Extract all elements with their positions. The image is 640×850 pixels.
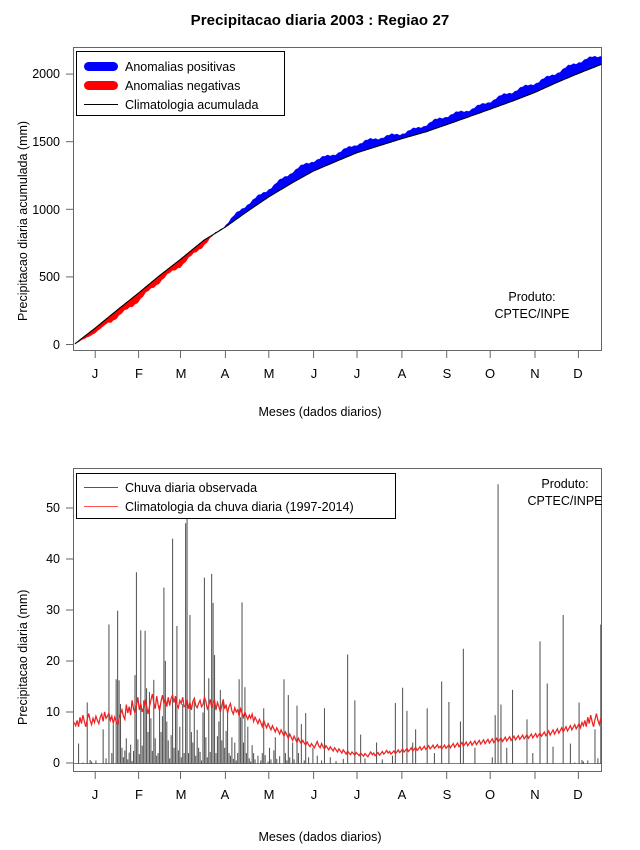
x-tick-label: A: [387, 787, 417, 802]
x-tick-label: A: [210, 366, 240, 381]
produto-line-1: Produto:: [472, 289, 592, 306]
legend-swatch-negative-icon: [77, 81, 125, 90]
legend-swatch-climatology-icon: [77, 104, 125, 105]
produto-line-1: Produto:: [500, 476, 630, 493]
x-tick-label: M: [166, 787, 196, 802]
x-tick-label: J: [80, 366, 110, 381]
legend-item-chuva-observada: Chuva diaria observada: [77, 478, 395, 497]
x-axis-ticks: [95, 351, 578, 358]
y-tick-label: 40: [14, 552, 60, 566]
y-tick-label: 50: [14, 501, 60, 515]
x-tick-label: S: [432, 787, 462, 802]
x-tick-label: O: [475, 366, 505, 381]
produto-line-2: CPTEC/INPE: [472, 306, 592, 323]
x-tick-label: F: [124, 366, 154, 381]
y-axis-ticks: [66, 508, 73, 763]
legend: Chuva diaria observada Climatologia da c…: [76, 473, 396, 519]
legend-label: Anomalias positivas: [125, 60, 235, 74]
x-tick-label: D: [563, 787, 593, 802]
x-tick-label: F: [124, 787, 154, 802]
x-tick-label: A: [210, 787, 240, 802]
x-tick-label: J: [342, 366, 372, 381]
y-tick-label: 2000: [14, 67, 60, 81]
x-tick-label: J: [299, 366, 329, 381]
y-axis-label: Precipitacao diaria acumulada (mm): [16, 121, 30, 321]
legend-item-climatologia-acumulada: Climatologia acumulada: [77, 95, 284, 114]
x-tick-label: M: [166, 366, 196, 381]
x-tick-label: A: [387, 366, 417, 381]
legend-swatch-positive-icon: [77, 62, 125, 71]
legend-item-anomalias-positivas: Anomalias positivas: [77, 57, 284, 76]
legend-label: Anomalias negativas: [125, 79, 240, 93]
produto-annotation: Produto: CPTEC/INPE: [500, 476, 630, 510]
legend-label: Chuva diaria observada: [125, 481, 257, 495]
x-tick-label: J: [299, 787, 329, 802]
daily-series: [74, 484, 602, 763]
produto-line-2: CPTEC/INPE: [500, 493, 630, 510]
x-tick-label: O: [475, 787, 505, 802]
x-tick-label: J: [80, 787, 110, 802]
x-tick-label: M: [254, 366, 284, 381]
x-axis-label: Meses (dados diarios): [0, 830, 640, 844]
legend-swatch-climatology-icon: [77, 506, 125, 507]
legend: Anomalias positivas Anomalias negativas …: [76, 51, 285, 116]
x-axis-label: Meses (dados diarios): [0, 405, 640, 419]
figure-accumulated-precipitation: Precipitacao diaria 2003 : Regiao 27: [0, 0, 640, 430]
legend-label: Climatologia acumulada: [125, 98, 258, 112]
legend-label: Climatologia da chuva diaria (1997-2014): [125, 500, 354, 514]
y-tick-label: 0: [14, 756, 60, 770]
x-tick-label: M: [254, 787, 284, 802]
y-axis-ticks: [66, 74, 73, 344]
x-tick-label: N: [520, 366, 550, 381]
y-axis-label: Precipitacao diaria (mm): [16, 590, 30, 725]
produto-annotation: Produto: CPTEC/INPE: [472, 289, 592, 323]
x-tick-label: D: [563, 366, 593, 381]
x-tick-label: J: [342, 787, 372, 802]
figure-daily-precipitation: 0 10 20 30 40 50 J F M A M J J A S O N D…: [0, 430, 640, 850]
x-tick-label: N: [520, 787, 550, 802]
legend-item-climatologia-diaria: Climatologia da chuva diaria (1997-2014): [77, 497, 395, 516]
y-tick-label: 0: [14, 338, 60, 352]
legend-item-anomalias-negativas: Anomalias negativas: [77, 76, 284, 95]
x-tick-label: S: [432, 366, 462, 381]
x-axis-ticks: [95, 772, 578, 779]
legend-swatch-observed-icon: [77, 487, 125, 488]
